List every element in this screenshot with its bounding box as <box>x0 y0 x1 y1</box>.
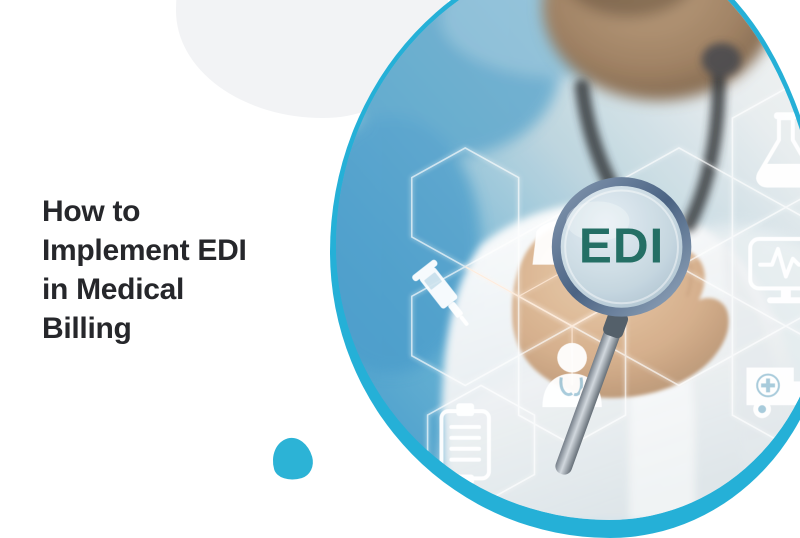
headline-line-3: in Medical <box>42 270 332 309</box>
headline-line-2: Implement EDI <box>42 231 332 270</box>
doctor-hexagon-photo: EDI <box>336 0 800 520</box>
blog-hero-banner: EDI How to Implement EDI in Medical Bill… <box>0 0 800 538</box>
hero-image-blob: EDI <box>330 0 800 538</box>
teal-droplet-decoration <box>267 433 317 484</box>
headline-line-1: How to <box>42 192 332 231</box>
headline-line-4: Billing <box>42 309 332 348</box>
hero-photo-clip: EDI <box>336 0 800 520</box>
page-title: How to Implement EDI in Medical Billing <box>42 192 332 348</box>
